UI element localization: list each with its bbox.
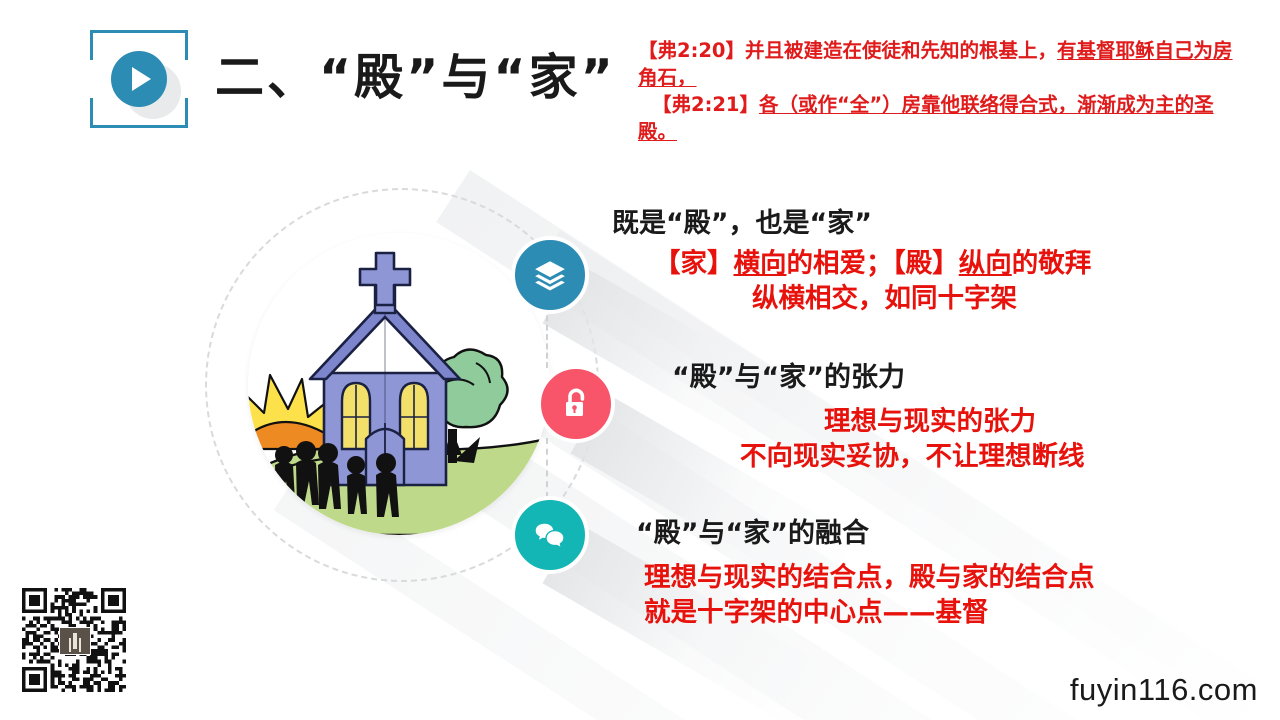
s1-r1-u1: 横向 — [734, 248, 787, 279]
section-3-red-line-2: 就是十字架的中心点——基督 — [644, 596, 1095, 629]
section-2-heading: “殿”与“家”的张力 — [672, 362, 1085, 395]
page-title: 二、“殿”与“家” — [215, 38, 616, 109]
s1-r1-u2: 纵向 — [959, 248, 1012, 279]
scripture-text-1-plain: 并且被建造在使徒和先知的根基上， — [745, 39, 1057, 62]
site-watermark: fuyin116.com — [1070, 672, 1258, 708]
section-1-text: 既是“殿”，也是“家” 【家】横向的相爱；【殿】纵向的敬拜 纵横相交，如同十字架 — [612, 208, 1091, 316]
section-1-red-line-1: 【家】横向的相爱；【殿】纵向的敬拜 — [654, 247, 1091, 280]
section-1-heading: 既是“殿”，也是“家” — [612, 208, 1091, 241]
s1-r1-b: 的相爱；【殿】 — [787, 248, 959, 279]
scripture-ref-2: 【弗2:21】 — [652, 93, 759, 116]
section-3-text: “殿”与“家”的融合 理想与现实的结合点，殿与家的结合点 就是十字架的中心点——… — [636, 518, 1095, 630]
section-3-red-line-1: 理想与现实的结合点，殿与家的结合点 — [644, 561, 1095, 594]
chat-bubbles-icon[interactable] — [511, 496, 589, 574]
qr-center-logo — [59, 627, 91, 655]
section-2-text: “殿”与“家”的张力 理想与现实的张力 不向现实妥协，不让理想断线 — [672, 362, 1085, 474]
church-illustration — [248, 233, 550, 535]
logo-bracket-notch-left — [88, 60, 95, 98]
scripture-line-1: 【弗2:20】并且被建造在使徒和先知的根基上，有基督耶稣自己为房角石， — [638, 38, 1242, 92]
section-2-red-line-2: 不向现实妥协，不让理想断线 — [740, 440, 1085, 473]
unlock-icon[interactable] — [537, 365, 615, 443]
s1-r1-a: 【家】 — [654, 248, 734, 279]
play-button-icon — [111, 51, 167, 107]
qr-code[interactable] — [22, 588, 126, 692]
section-1-red-line-2: 纵横相交，如同十字架 — [752, 282, 1091, 315]
brand-logo — [90, 30, 188, 128]
layers-icon[interactable] — [511, 236, 589, 314]
s1-r1-c: 的敬拜 — [1012, 248, 1092, 279]
icon-connector-line-1 — [546, 306, 548, 368]
slide-canvas: 二、“殿”与“家” 【弗2:20】并且被建造在使徒和先知的根基上，有基督耶稣自己… — [0, 0, 1280, 720]
scripture-quote: 【弗2:20】并且被建造在使徒和先知的根基上，有基督耶稣自己为房角石， 【弗2:… — [638, 38, 1242, 146]
section-2-red-line-1: 理想与现实的张力 — [824, 405, 1085, 438]
logo-bracket-notch-right — [183, 60, 190, 98]
scripture-line-2: 【弗2:21】各（或作“全”）房靠他联络得合式，渐渐成为主的圣殿。 — [638, 92, 1242, 146]
section-3-heading: “殿”与“家”的融合 — [636, 518, 1095, 551]
scripture-ref-1: 【弗2:20】 — [638, 39, 745, 62]
icon-connector-line-2 — [546, 438, 548, 498]
